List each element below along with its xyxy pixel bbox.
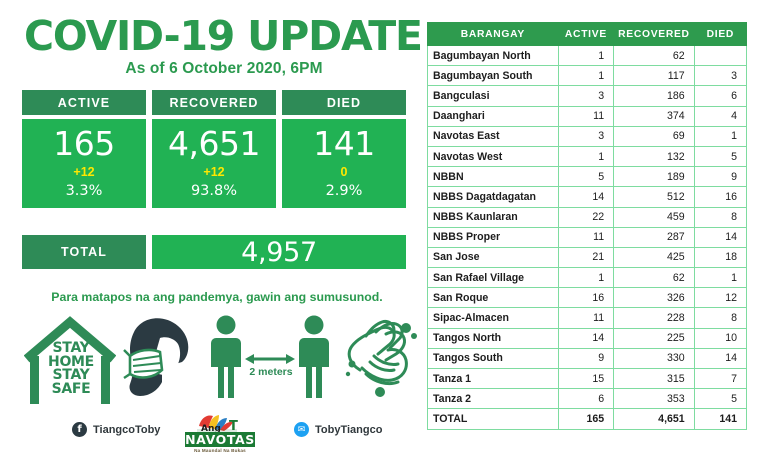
cell-barangay: San Rafael Village xyxy=(428,268,559,288)
table-row: Bagumbayan South11173 xyxy=(428,66,747,86)
table-row: Sipac-Almacen112288 xyxy=(428,308,747,328)
navotas-logo: T Ang NAVOTAS Na Maundal Na Bukas xyxy=(183,412,257,456)
table-total-row: TOTAL1654,651141 xyxy=(428,409,747,429)
cell-active: 5 xyxy=(558,167,614,187)
cell-died: 14 xyxy=(694,348,746,368)
cell-barangay: San Roque xyxy=(428,288,559,308)
stat-value-recovered: 4,651 xyxy=(168,127,260,162)
cell-recovered: 186 xyxy=(614,86,695,106)
cell-recovered: 117 xyxy=(614,66,695,86)
stat-body-active: 165 +12 3.3% xyxy=(22,119,146,208)
cell-active: 9 xyxy=(558,348,614,368)
cell-barangay: NBBS Dagatdagatan xyxy=(428,187,559,207)
cell-active: 165 xyxy=(558,409,614,429)
cell-died: 5 xyxy=(694,389,746,409)
table-head: BARANGAY ACTIVE RECOVERED DIED xyxy=(428,23,747,46)
cell-barangay: Bagumbayan North xyxy=(428,46,559,66)
table-body: Bagumbayan North162Bagumbayan South11173… xyxy=(428,46,747,430)
cell-died: 8 xyxy=(694,308,746,328)
cell-recovered: 287 xyxy=(614,227,695,247)
facebook-icon: f xyxy=(72,422,87,437)
cell-active: 11 xyxy=(558,106,614,126)
cell-recovered: 69 xyxy=(614,126,695,146)
cell-died: 1 xyxy=(694,268,746,288)
face-mask-icon xyxy=(116,312,202,404)
cell-died: 10 xyxy=(694,328,746,348)
cell-barangay: NBBS Proper xyxy=(428,227,559,247)
cell-active: 1 xyxy=(558,46,614,66)
barangay-table-container: BARANGAY ACTIVE RECOVERED DIED Bagumbaya… xyxy=(427,22,747,430)
table-row: NBBS Dagatdagatan1451216 xyxy=(428,187,747,207)
cell-died: 6 xyxy=(694,86,746,106)
stat-card-recovered: RECOVERED 4,651 +12 93.8% xyxy=(152,90,276,208)
cell-barangay: Tanza 2 xyxy=(428,389,559,409)
cell-died xyxy=(694,46,746,66)
table-row: NBBN51899 xyxy=(428,167,747,187)
cell-died: 16 xyxy=(694,187,746,207)
cell-recovered: 4,651 xyxy=(614,409,695,429)
cell-active: 11 xyxy=(558,227,614,247)
cell-barangay: TOTAL xyxy=(428,409,559,429)
page-title: COVID-19 UPDATE xyxy=(24,16,424,57)
table-row: NBBS Kaunlaran224598 xyxy=(428,207,747,227)
cell-recovered: 330 xyxy=(614,348,695,368)
cell-died: 141 xyxy=(694,409,746,429)
cell-active: 3 xyxy=(558,86,614,106)
stat-percent-died: 2.9% xyxy=(326,182,363,202)
cell-barangay: San Jose xyxy=(428,247,559,267)
cell-recovered: 132 xyxy=(614,146,695,166)
cell-recovered: 326 xyxy=(614,288,695,308)
cell-active: 6 xyxy=(558,389,614,409)
cell-barangay: Tanza 1 xyxy=(428,369,559,389)
cell-died: 1 xyxy=(694,126,746,146)
stat-delta-recovered: +12 xyxy=(203,162,224,182)
stat-value-active: 165 xyxy=(53,127,115,162)
stat-value-died: 141 xyxy=(313,127,375,162)
cell-barangay: Tangos South xyxy=(428,348,559,368)
cell-recovered: 225 xyxy=(614,328,695,348)
cell-died: 12 xyxy=(694,288,746,308)
cell-recovered: 62 xyxy=(614,268,695,288)
cell-active: 1 xyxy=(558,66,614,86)
stat-label-died: DIED xyxy=(282,90,406,115)
reminder-text: Para matapos na ang pandemya, gawin ang … xyxy=(22,290,412,304)
col-header-active: ACTIVE xyxy=(558,23,614,46)
twitter-link[interactable]: ✉ TobyTiangco xyxy=(294,422,382,437)
cell-recovered: 459 xyxy=(614,207,695,227)
total-label: TOTAL xyxy=(22,235,146,269)
cell-died: 4 xyxy=(694,106,746,126)
col-header-barangay: BARANGAY xyxy=(428,23,559,46)
facebook-handle: TiangcoToby xyxy=(93,424,160,436)
cell-recovered: 374 xyxy=(614,106,695,126)
cell-died: 18 xyxy=(694,247,746,267)
table-row: Daanghari113744 xyxy=(428,106,747,126)
barangay-table: BARANGAY ACTIVE RECOVERED DIED Bagumbaya… xyxy=(427,22,747,430)
stat-body-died: 141 0 2.9% xyxy=(282,119,406,208)
table-row: Tanza 1153157 xyxy=(428,369,747,389)
left-panel: COVID-19 UPDATE As of 6 October 2020, 6P… xyxy=(0,0,424,458)
stat-body-recovered: 4,651 +12 93.8% xyxy=(152,119,276,208)
table-row: Bangculasi31866 xyxy=(428,86,747,106)
table-row: NBBS Proper1128714 xyxy=(428,227,747,247)
cell-active: 1 xyxy=(558,146,614,166)
infographic-page: COVID-19 UPDATE As of 6 October 2020, 6P… xyxy=(0,0,768,458)
logo-navotas-text: NAVOTAS xyxy=(185,432,255,447)
cell-recovered: 62 xyxy=(614,46,695,66)
table-row: Navotas West11325 xyxy=(428,146,747,166)
table-row: San Jose2142518 xyxy=(428,247,747,267)
stay-home-icon: STAY HOME STAY SAFE xyxy=(24,312,116,404)
cell-barangay: Navotas West xyxy=(428,146,559,166)
cell-active: 16 xyxy=(558,288,614,308)
cell-active: 3 xyxy=(558,126,614,146)
stat-percent-active: 3.3% xyxy=(66,182,103,202)
table-row: Bagumbayan North162 xyxy=(428,46,747,66)
cell-died: 14 xyxy=(694,227,746,247)
cell-recovered: 315 xyxy=(614,369,695,389)
stat-label-recovered: RECOVERED xyxy=(152,90,276,115)
cell-barangay: Navotas East xyxy=(428,126,559,146)
cell-active: 22 xyxy=(558,207,614,227)
table-row: Tangos North1422510 xyxy=(428,328,747,348)
stay-home-line-4: SAFE xyxy=(36,383,106,397)
distance-label: 2 meters xyxy=(240,366,302,378)
cell-barangay: Bangculasi xyxy=(428,86,559,106)
cell-barangay: Bagumbayan South xyxy=(428,66,559,86)
stat-percent-recovered: 93.8% xyxy=(191,182,237,202)
table-row: San Rafael Village1621 xyxy=(428,268,747,288)
col-header-died: DIED xyxy=(694,23,746,46)
social-distancing-icon: 2 meters xyxy=(204,312,336,404)
cell-active: 14 xyxy=(558,328,614,348)
cell-barangay: Tangos North xyxy=(428,328,559,348)
stat-delta-active: +12 xyxy=(73,162,94,182)
stay-home-label: STAY HOME STAY SAFE xyxy=(36,342,106,397)
cell-barangay: NBBS Kaunlaran xyxy=(428,207,559,227)
cell-died: 8 xyxy=(694,207,746,227)
handwashing-icon xyxy=(336,312,426,404)
cell-recovered: 228 xyxy=(614,308,695,328)
cell-active: 11 xyxy=(558,308,614,328)
table-header-row: BARANGAY ACTIVE RECOVERED DIED xyxy=(428,23,747,46)
cell-barangay: NBBN xyxy=(428,167,559,187)
cell-active: 14 xyxy=(558,187,614,207)
cell-recovered: 189 xyxy=(614,167,695,187)
facebook-link[interactable]: f TiangcoToby xyxy=(72,422,160,437)
page-subtitle: As of 6 October 2020, 6PM xyxy=(28,60,420,78)
cell-barangay: Sipac-Almacen xyxy=(428,308,559,328)
cell-barangay: Daanghari xyxy=(428,106,559,126)
twitter-icon: ✉ xyxy=(294,422,309,437)
twitter-handle: TobyTiangco xyxy=(315,424,382,436)
cell-died: 9 xyxy=(694,167,746,187)
cell-died: 7 xyxy=(694,369,746,389)
stat-card-active: ACTIVE 165 +12 3.3% xyxy=(22,90,146,208)
stat-label-active: ACTIVE xyxy=(22,90,146,115)
cell-recovered: 353 xyxy=(614,389,695,409)
cell-active: 21 xyxy=(558,247,614,267)
table-row: Navotas East3691 xyxy=(428,126,747,146)
cell-active: 1 xyxy=(558,268,614,288)
cell-recovered: 512 xyxy=(614,187,695,207)
col-header-recovered: RECOVERED xyxy=(614,23,695,46)
stat-delta-died: 0 xyxy=(341,162,348,182)
cell-died: 5 xyxy=(694,146,746,166)
total-value: 4,957 xyxy=(152,235,406,269)
cell-died: 3 xyxy=(694,66,746,86)
table-row: San Roque1632612 xyxy=(428,288,747,308)
cell-active: 15 xyxy=(558,369,614,389)
table-row: Tangos South933014 xyxy=(428,348,747,368)
prevention-icon-row: STAY HOME STAY SAFE xyxy=(18,312,418,407)
logo-tagline: Na Maundal Na Bukas xyxy=(185,448,255,453)
stat-card-died: DIED 141 0 2.9% xyxy=(282,90,406,208)
cell-recovered: 425 xyxy=(614,247,695,267)
table-row: Tanza 263535 xyxy=(428,389,747,409)
